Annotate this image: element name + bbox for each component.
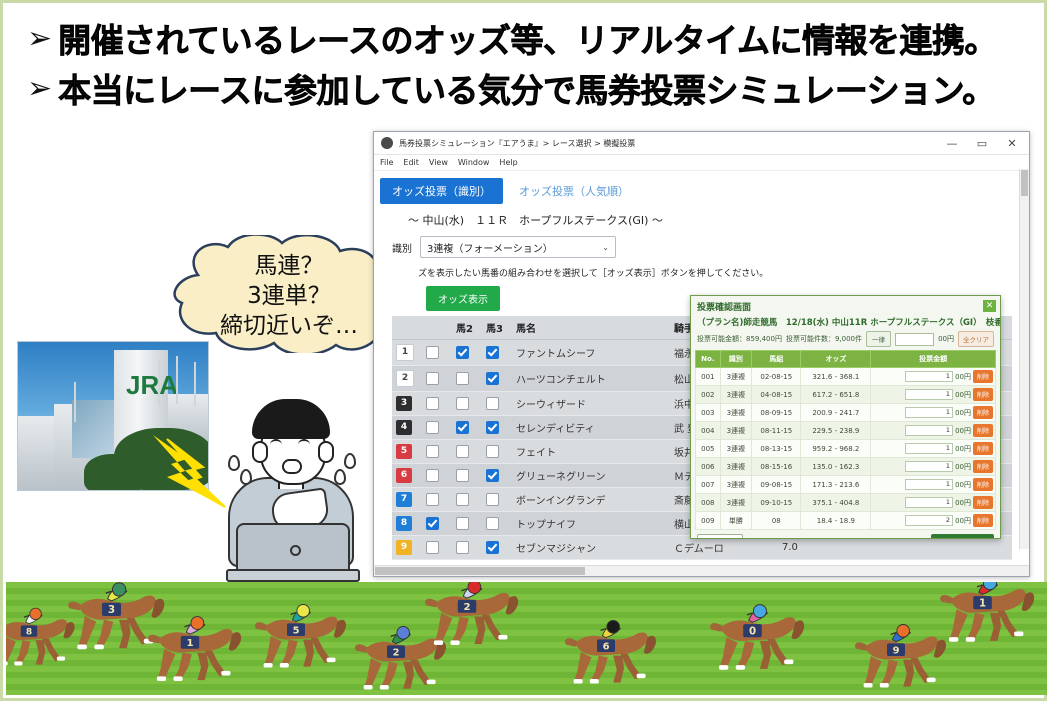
th-horse2: 馬2 bbox=[452, 316, 482, 340]
chevron-down-icon: ⌄ bbox=[602, 243, 609, 252]
uniform-amount-unit: 00円 bbox=[938, 334, 954, 344]
bet-table-row: 0033連複08-09-15200.9 - 241.7100円削除 bbox=[696, 404, 996, 422]
bet-type-row: 識別 3連複（フォーメーション） ⌄ bbox=[374, 234, 1029, 262]
bet-amount-unit: 00円 bbox=[955, 408, 971, 418]
svg-text:1: 1 bbox=[979, 598, 986, 609]
bet-amount-unit: 00円 bbox=[955, 480, 971, 490]
checkbox-horse3[interactable] bbox=[482, 416, 512, 440]
bet-combo: 08-09-15 bbox=[752, 404, 801, 422]
th-kind: 識別 bbox=[720, 351, 751, 368]
total-amount-label: 合計投票金額：1,000円 bbox=[834, 538, 923, 539]
heading-text-1: 開催されているレースのオッズ等、リアルタイムに情報を連携。 bbox=[58, 19, 997, 63]
count-label: 投票可能件数：9,000件 bbox=[786, 334, 862, 344]
tab-odds-bet-id[interactable]: オッズ投票（識別） bbox=[380, 178, 503, 204]
bet-no: 003 bbox=[696, 404, 721, 422]
checkbox-horse1[interactable] bbox=[422, 392, 452, 416]
delete-bet-button[interactable]: 削除 bbox=[973, 460, 993, 473]
bet-kind: 3連複 bbox=[720, 440, 751, 458]
jra-logo-icon: JRA bbox=[126, 368, 156, 402]
instruction-text: ズを表示したい馬番の組み合わせを選択して［オッズ表示］ボタンを押してください。 bbox=[374, 262, 1029, 283]
bet-amount-unit: 00円 bbox=[955, 372, 971, 382]
menu-help[interactable]: Help bbox=[499, 158, 517, 167]
delete-bet-button[interactable]: 削除 bbox=[973, 370, 993, 383]
minimize-button[interactable]: — bbox=[937, 133, 967, 154]
bet-amount-input[interactable]: 1 bbox=[905, 479, 953, 490]
th-gate bbox=[392, 316, 422, 340]
bet-no: 007 bbox=[696, 476, 721, 494]
horizontal-scrollbar[interactable] bbox=[374, 565, 1029, 576]
heading-line-1: ➢ 開催されているレースのオッズ等、リアルタイムに情報を連携。 bbox=[27, 19, 1027, 63]
horse-race-illustration: 8315226091 bbox=[6, 582, 1047, 695]
race-horse: 6 bbox=[561, 616, 660, 686]
bet-kind: 3連複 bbox=[720, 494, 751, 512]
checkbox-horse1[interactable] bbox=[422, 440, 452, 464]
uniform-amount-button[interactable]: 一律 bbox=[866, 331, 891, 347]
horse-name: グリューネグリーン bbox=[512, 464, 670, 488]
checkbox-horse3[interactable] bbox=[482, 340, 512, 366]
horse-name: トップナイフ bbox=[512, 512, 670, 536]
horse-name: ボーンイングランデ bbox=[512, 488, 670, 512]
bullet-arrow-icon: ➢ bbox=[27, 69, 52, 109]
bet-combo: 08-13-15 bbox=[752, 440, 801, 458]
checkbox-horse1[interactable] bbox=[422, 464, 452, 488]
bet-odds: 135.0 - 162.3 bbox=[801, 458, 871, 476]
delete-bet-button[interactable]: 削除 bbox=[973, 496, 993, 509]
bet-amount-input[interactable]: 1 bbox=[905, 389, 953, 400]
bet-kind: 3連複 bbox=[720, 404, 751, 422]
bet-odds: 171.3 - 213.6 bbox=[801, 476, 871, 494]
checkbox-horse2[interactable] bbox=[452, 340, 482, 366]
checkbox-horse3[interactable] bbox=[482, 512, 512, 536]
race-horse: 1 bbox=[936, 582, 1038, 645]
window-titlebar: 馬券投票シミュレーション『エアうま』> レース選択 > 模擬投票 — ▭ ✕ bbox=[374, 132, 1029, 155]
bet-combo: 02-08-15 bbox=[752, 368, 801, 386]
gate-number: 4 bbox=[392, 416, 422, 440]
bet-odds: 375.1 - 404.8 bbox=[801, 494, 871, 512]
checkbox-horse1[interactable] bbox=[422, 512, 452, 536]
th-name: 馬名 bbox=[512, 316, 670, 340]
dialog-close-icon[interactable]: ✕ bbox=[983, 300, 996, 312]
bet-amount-unit: 00円 bbox=[955, 498, 971, 508]
bet-confirmation-dialog: 投票確認画面 ✕ （プラン名)師走競馬 12/18(水) 中山11R ホープフル… bbox=[690, 295, 1001, 539]
bet-no: 006 bbox=[696, 458, 721, 476]
bet-amount-input[interactable]: 1 bbox=[905, 497, 953, 508]
checkbox-horse3[interactable] bbox=[482, 536, 512, 560]
horse-name: シーウィザード bbox=[512, 392, 670, 416]
bet-kind: 3連複 bbox=[720, 422, 751, 440]
delete-bet-button[interactable]: 削除 bbox=[973, 424, 993, 437]
gate-number: 1 bbox=[392, 340, 422, 366]
bet-odds: 229.5 - 238.9 bbox=[801, 422, 871, 440]
bet-amount-unit: 00円 bbox=[955, 516, 971, 526]
checkbox-horse2[interactable] bbox=[452, 392, 482, 416]
svg-text:6: 6 bbox=[603, 641, 610, 652]
bet-no: 002 bbox=[696, 386, 721, 404]
bet-table-header-row: No. 識別 馬組 オッズ 投票金額 bbox=[696, 351, 996, 368]
checkbox-horse3[interactable] bbox=[482, 392, 512, 416]
bet-amount-input[interactable]: 1 bbox=[905, 407, 953, 418]
th-horse1 bbox=[422, 316, 452, 340]
bet-combo: 08 bbox=[752, 512, 801, 530]
window-title: 馬券投票シミュレーション『エアうま』> レース選択 > 模擬投票 bbox=[399, 138, 635, 149]
bet-amount-input[interactable]: 1 bbox=[905, 425, 953, 436]
bet-list-table: No. 識別 馬組 オッズ 投票金額 0013連複02-08-15321.6 -… bbox=[695, 350, 996, 530]
checkbox-horse1[interactable] bbox=[422, 340, 452, 366]
gate-number: 5 bbox=[392, 440, 422, 464]
bet-combo: 04-08-15 bbox=[752, 386, 801, 404]
bet-odds: 18.4 - 18.9 bbox=[801, 512, 871, 530]
dialog-header: 投票確認画面 ✕ bbox=[691, 296, 1000, 313]
bet-table-row: 0063連複08-15-16135.0 - 162.3100円削除 bbox=[696, 458, 996, 476]
checkbox-horse3[interactable] bbox=[482, 464, 512, 488]
th-combo: 馬組 bbox=[752, 351, 801, 368]
menu-file[interactable]: File bbox=[380, 158, 393, 167]
bet-combo: 08-11-15 bbox=[752, 422, 801, 440]
menu-view[interactable]: View bbox=[429, 158, 448, 167]
race-horse: 5 bbox=[251, 600, 350, 670]
bet-no: 009 bbox=[696, 512, 721, 530]
delete-bet-button[interactable]: 削除 bbox=[973, 388, 993, 401]
checkbox-horse1[interactable] bbox=[422, 416, 452, 440]
bet-no: 004 bbox=[696, 422, 721, 440]
bet-no: 008 bbox=[696, 494, 721, 512]
lightning-bolt-icon bbox=[151, 431, 215, 503]
menu-edit[interactable]: Edit bbox=[403, 158, 419, 167]
bet-odds: 617.2 - 651.8 bbox=[801, 386, 871, 404]
bet-table-row: 0013連複02-08-15321.6 - 368.1100円削除 bbox=[696, 368, 996, 386]
bet-odds: 959.2 - 968.2 bbox=[801, 440, 871, 458]
slide-root: ➢ 開催されているレースのオッズ等、リアルタイムに情報を連携。 ➢ 本当にレース… bbox=[0, 0, 1047, 701]
checkbox-horse3[interactable] bbox=[482, 488, 512, 512]
bet-table-row: 0053連複08-13-15959.2 - 968.2100円削除 bbox=[696, 440, 996, 458]
horse-name: ハーツコンチェルト bbox=[512, 366, 670, 392]
dialog-title: 投票確認画面 bbox=[697, 300, 751, 313]
bet-table-row: 009単勝0818.4 - 18.9200円削除 bbox=[696, 512, 996, 530]
bet-table-row: 0083連複09-10-15375.1 - 404.8100円削除 bbox=[696, 494, 996, 512]
delete-bet-button[interactable]: 削除 bbox=[973, 406, 993, 419]
th-amount: 投票金額 bbox=[871, 351, 996, 368]
svg-text:3: 3 bbox=[108, 604, 115, 616]
bet-amount-unit: 00円 bbox=[955, 444, 971, 454]
checkbox-horse1[interactable] bbox=[422, 366, 452, 392]
table-row: 9セブンマジシャンＣデムーロ7.0 bbox=[392, 536, 1012, 560]
gate-number: 3 bbox=[392, 392, 422, 416]
bet-kind: 単勝 bbox=[720, 512, 751, 530]
headings-block: ➢ 開催されているレースのオッズ等、リアルタイムに情報を連携。 ➢ 本当にレース… bbox=[27, 19, 1027, 119]
bet-table-row: 0023連複04-08-15617.2 - 651.8100円削除 bbox=[696, 386, 996, 404]
race-horse: 1 bbox=[144, 612, 245, 684]
show-odds-button[interactable]: オッズ表示 bbox=[426, 286, 500, 311]
th-horse3: 馬3 bbox=[482, 316, 512, 340]
bet-type-label: 識別 bbox=[392, 240, 412, 255]
bet-type-select[interactable]: 3連複（フォーメーション） ⌄ bbox=[420, 236, 616, 258]
delete-bet-button[interactable]: 削除 bbox=[973, 442, 993, 455]
bet-combo: 09-08-15 bbox=[752, 476, 801, 494]
gate-number: 9 bbox=[392, 536, 422, 560]
maximize-button[interactable]: ▭ bbox=[967, 133, 997, 154]
dialog-plan-line: （プラン名)師走競馬 12/18(水) 中山11R ホープフルステークス（GⅠ）… bbox=[691, 313, 1000, 330]
gate-number: 6 bbox=[392, 464, 422, 488]
svg-text:1: 1 bbox=[186, 638, 193, 649]
close-button[interactable]: ✕ bbox=[997, 133, 1027, 154]
svg-text:9: 9 bbox=[893, 645, 900, 656]
gate-number: 8 bbox=[392, 512, 422, 536]
vertical-scrollbar[interactable] bbox=[1019, 169, 1029, 549]
delete-bet-button[interactable]: 削除 bbox=[973, 478, 993, 491]
bet-kind: 3連複 bbox=[720, 476, 751, 494]
checkbox-horse2[interactable] bbox=[452, 440, 482, 464]
bet-odds: 200.9 - 241.7 bbox=[801, 404, 871, 422]
checkbox-horse1[interactable] bbox=[422, 488, 452, 512]
bet-amount-input[interactable]: 2 bbox=[905, 515, 953, 526]
bet-amount-unit: 00円 bbox=[955, 390, 971, 400]
race-title: ～ 中山(水) １１Ｒ ホープフルステークス(GⅠ) ～ bbox=[374, 210, 1029, 234]
checkbox-horse1[interactable] bbox=[422, 536, 452, 560]
jockey-name: Ｃデムーロ bbox=[670, 536, 778, 560]
th-no: No. bbox=[696, 351, 721, 368]
bullet-arrow-icon: ➢ bbox=[27, 19, 52, 59]
bet-amount-unit: 00円 bbox=[955, 426, 971, 436]
tab-bar: オッズ投票（識別） オッズ投票（人気順） bbox=[374, 171, 1029, 210]
bet-kind: 3連複 bbox=[720, 386, 751, 404]
svg-text:5: 5 bbox=[293, 625, 300, 636]
balance-label: 投票可能金額：859,400円 bbox=[697, 334, 782, 344]
bet-combo: 08-15-16 bbox=[752, 458, 801, 476]
app-icon bbox=[381, 137, 393, 149]
checkbox-horse3[interactable] bbox=[482, 440, 512, 464]
svg-text:2: 2 bbox=[463, 602, 470, 613]
bet-amount-input[interactable]: 1 bbox=[905, 443, 953, 454]
menu-window[interactable]: Window bbox=[458, 158, 490, 167]
bet-amount-input[interactable]: 1 bbox=[905, 461, 953, 472]
heading-line-2: ➢ 本当にレースに参加している気分で馬券投票シミュレーション。 bbox=[27, 69, 1027, 113]
bet-kind: 3連複 bbox=[720, 458, 751, 476]
bet-table-row: 0043連複08-11-15229.5 - 238.9100円削除 bbox=[696, 422, 996, 440]
horse-name: セレンディビティ bbox=[512, 416, 670, 440]
bet-amount-input[interactable]: 1 bbox=[905, 371, 953, 382]
bet-type-value: 3連複（フォーメーション） bbox=[427, 240, 553, 255]
uniform-amount-input[interactable] bbox=[895, 333, 934, 346]
tab-odds-bet-popular[interactable]: オッズ投票（人気順） bbox=[507, 178, 641, 204]
gate-number: 2 bbox=[392, 366, 422, 392]
bet-amount-unit: 00円 bbox=[955, 462, 971, 472]
bet-kind: 3連複 bbox=[720, 368, 751, 386]
checkbox-horse2[interactable] bbox=[452, 366, 482, 392]
horse-name: フェイト bbox=[512, 440, 670, 464]
checkbox-horse3[interactable] bbox=[482, 366, 512, 392]
race-horse: 0 bbox=[706, 600, 808, 673]
svg-text:8: 8 bbox=[26, 627, 32, 637]
bet-table-row: 0073連複09-08-15171.3 - 213.6100円削除 bbox=[696, 476, 996, 494]
checkbox-horse2[interactable] bbox=[452, 512, 482, 536]
bet-combo: 09-10-15 bbox=[752, 494, 801, 512]
svg-text:2: 2 bbox=[393, 647, 400, 658]
checkbox-horse2[interactable] bbox=[452, 416, 482, 440]
svg-text:0: 0 bbox=[749, 626, 756, 637]
horse-name: ファントムシーフ bbox=[512, 340, 670, 366]
delete-bet-button[interactable]: 削除 bbox=[973, 514, 993, 527]
checkbox-horse2[interactable] bbox=[452, 488, 482, 512]
bet-no: 001 bbox=[696, 368, 721, 386]
submit-simulated-bet-button[interactable]: 模擬投票する bbox=[931, 534, 994, 539]
dialog-footer: 投票追加 合計投票金額：1,000円 模擬投票する bbox=[691, 530, 1000, 539]
bet-no: 005 bbox=[696, 440, 721, 458]
checkbox-horse2[interactable] bbox=[452, 464, 482, 488]
bet-odds: 321.6 - 368.1 bbox=[801, 368, 871, 386]
horse-name: セブンマジシャン bbox=[512, 536, 670, 560]
win-odds: 7.0 bbox=[778, 536, 1012, 560]
race-horse: 2 bbox=[421, 582, 522, 648]
checkbox-horse2[interactable] bbox=[452, 536, 482, 560]
th-odds: オッズ bbox=[801, 351, 871, 368]
clear-all-button[interactable]: 全クリア bbox=[958, 331, 994, 347]
dialog-limits-row: 投票可能金額：859,400円 投票可能件数：9,000件 一律 00円 全クリ… bbox=[691, 330, 1000, 350]
heading-text-2: 本当にレースに参加している気分で馬券投票シミュレーション。 bbox=[58, 69, 995, 113]
gate-number: 7 bbox=[392, 488, 422, 512]
add-bet-button[interactable]: 投票追加 bbox=[697, 534, 743, 539]
menu-bar: File Edit View Window Help bbox=[374, 155, 1029, 171]
